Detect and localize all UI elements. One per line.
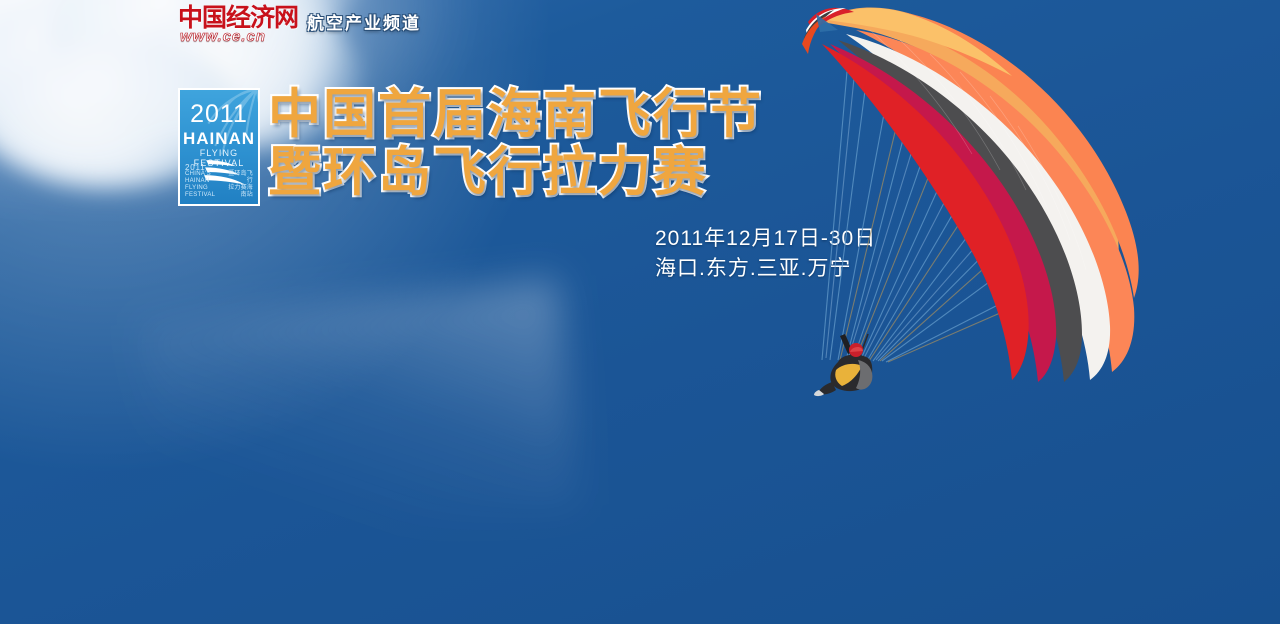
site-logo[interactable]: 中国经济网 www.ce.cn (178, 6, 296, 44)
badge-footer-left-line1: CHINA'S HAINAN (185, 171, 226, 185)
badge-footer-right-line1: 暨环岛飞行 (226, 171, 253, 185)
cloud-streak (139, 279, 581, 552)
badge-footer-year: 2011 (185, 164, 226, 171)
site-logo-url: www.ce.cn (180, 29, 266, 44)
channel-name: 航空产业频道 (307, 15, 421, 32)
paraglider-pilot (812, 330, 892, 400)
title-line-1: 中国首届海南飞行节 (268, 86, 763, 144)
festival-badge: 2011 HAINAN FLYING FESTIVAL 2011 CHINA'S… (178, 88, 260, 206)
badge-footer-left-line2: FLYING FESTIVAL (185, 185, 226, 199)
badge-year: 2011 (180, 102, 258, 127)
badge-footer-left: 2011 CHINA'S HAINAN FLYING FESTIVAL (185, 164, 226, 199)
badge-footer: 2011 CHINA'S HAINAN FLYING FESTIVAL 暨环岛飞… (185, 164, 253, 199)
title-line-2: 暨环岛飞行拉力赛 (268, 144, 763, 202)
flying-festival-banner: 中国经济网 www.ce.cn 航空产业频道 2011 HAINAN FLYIN… (0, 0, 1280, 624)
badge-footer-right-line2: 拉力赛海南站 (226, 185, 253, 199)
badge-footer-right: 暨环岛飞行 拉力赛海南站 (226, 171, 253, 199)
page-title: 中国首届海南飞行节 暨环岛飞行拉力赛 (268, 86, 763, 202)
badge-place: HAINAN (180, 130, 258, 147)
